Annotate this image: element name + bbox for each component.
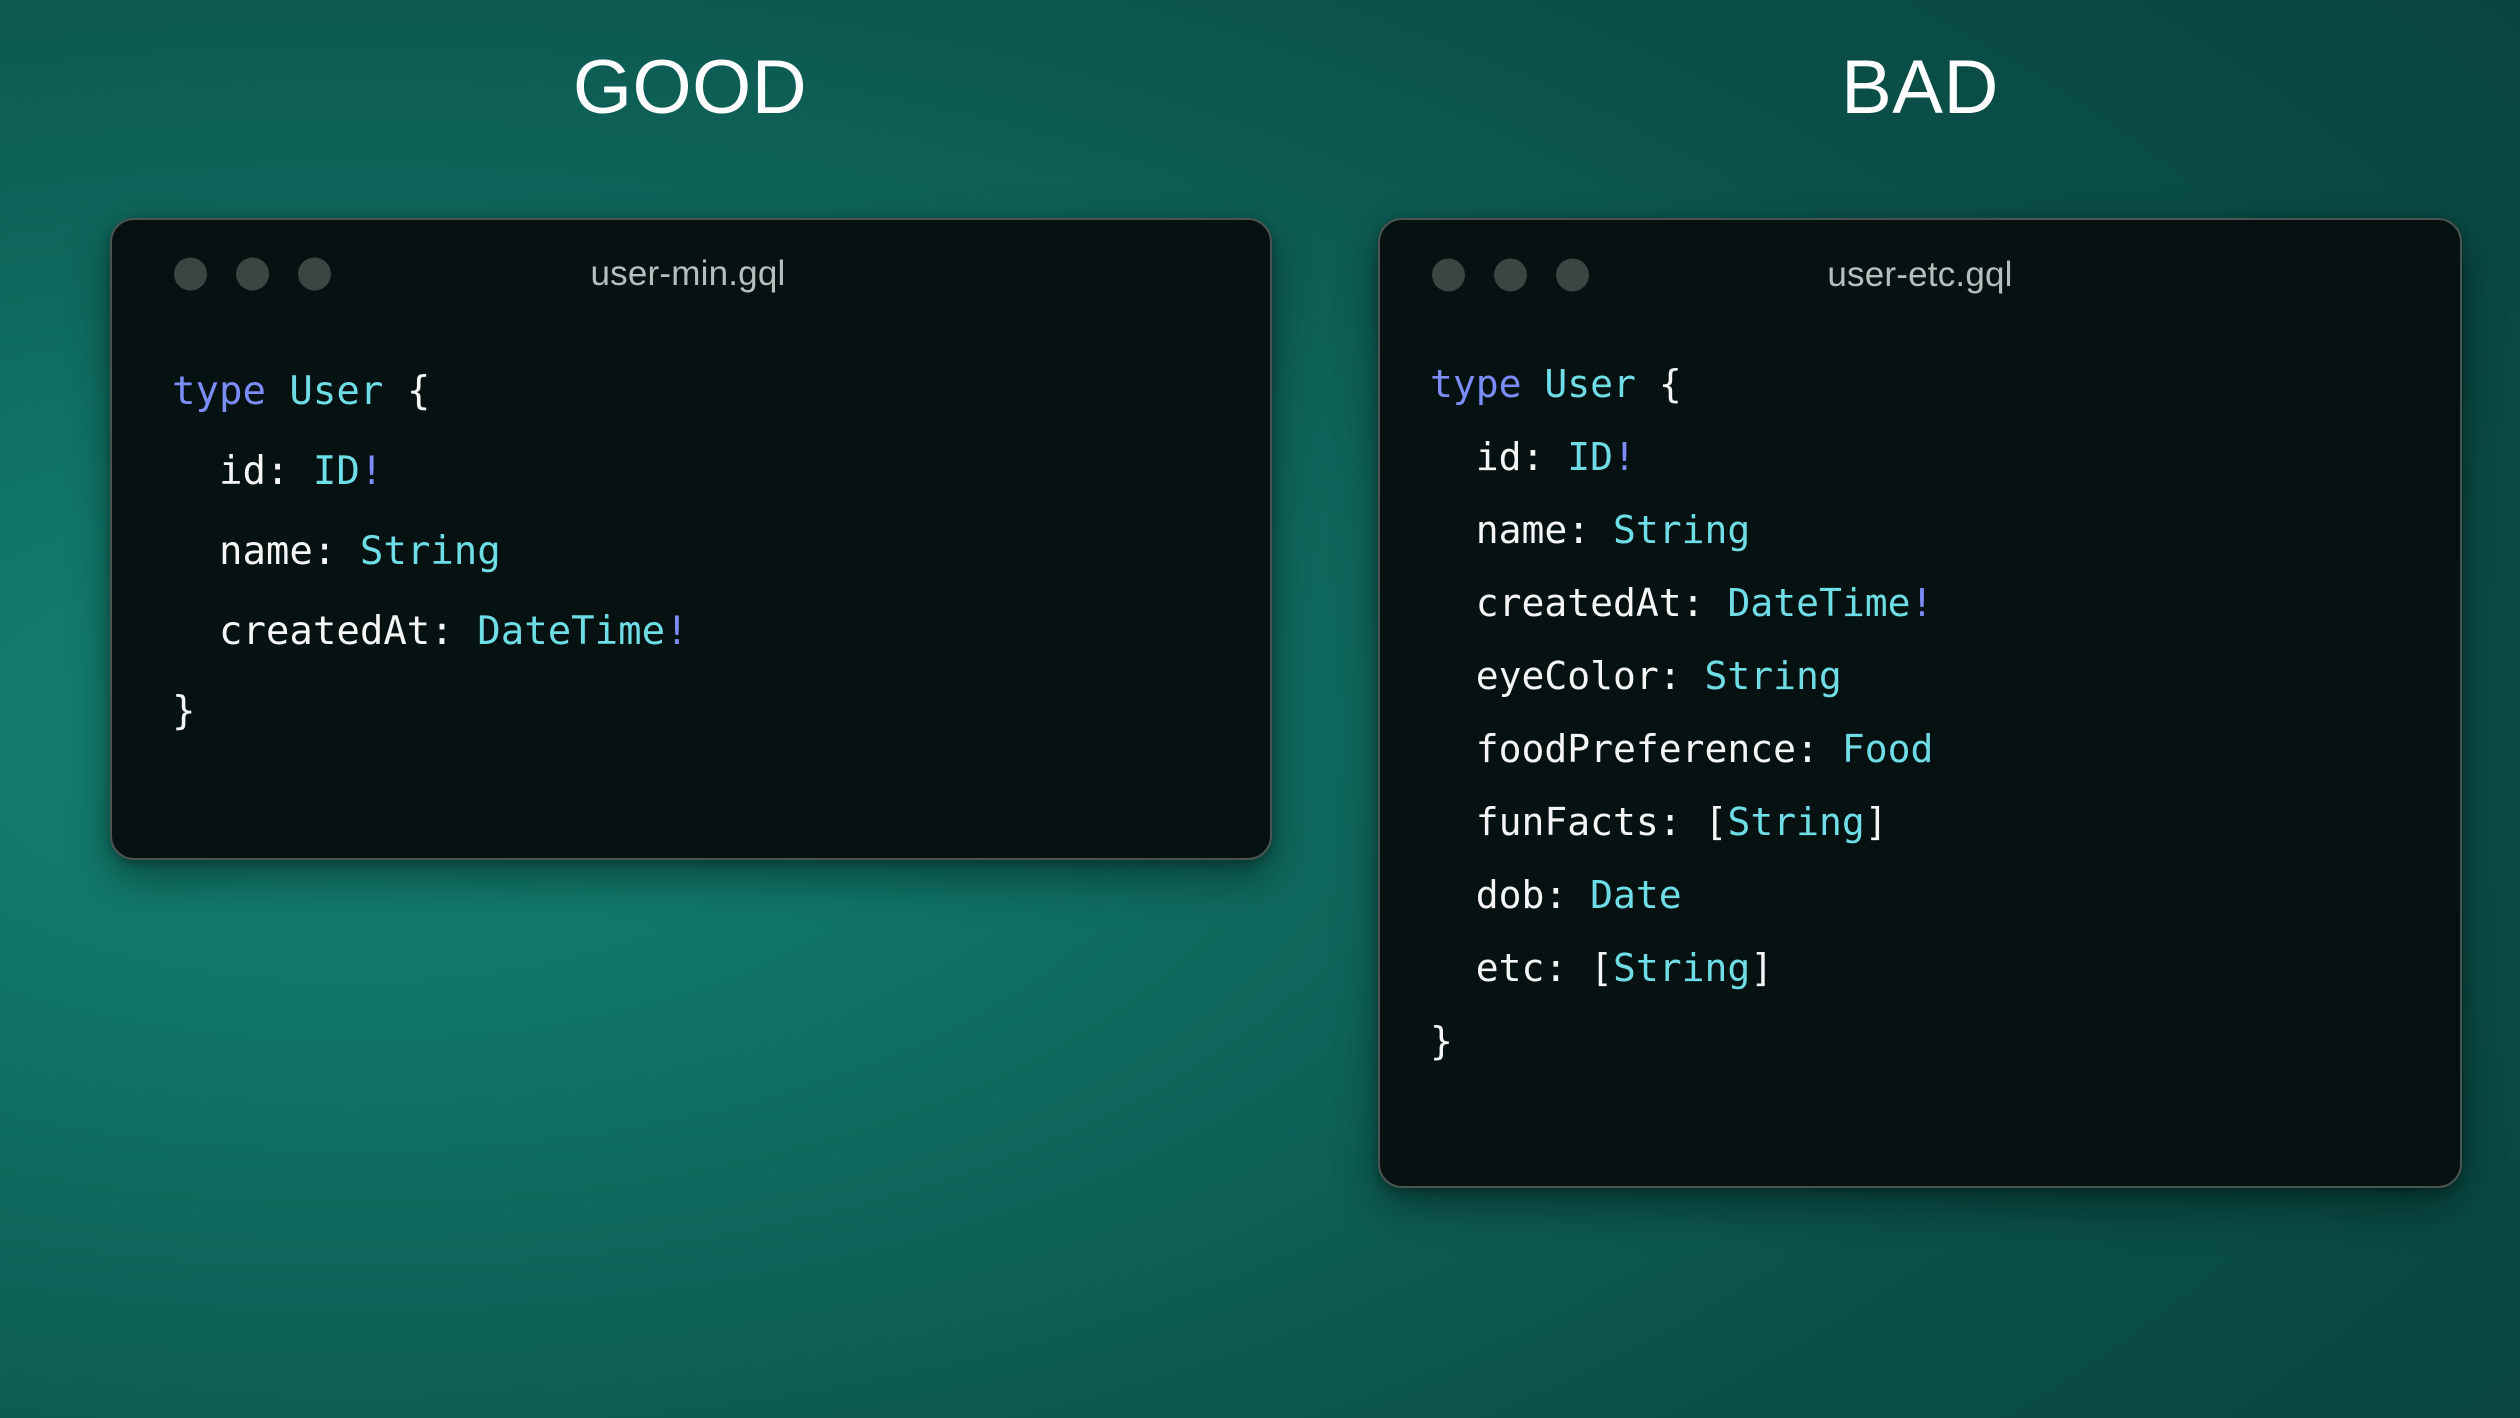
bad-code-block: type User { id: ID! name: String created… — [1380, 330, 2460, 1078]
code-token-type: String — [360, 529, 501, 574]
code-token-bang: ! — [1910, 581, 1933, 625]
code-token-kw: type — [1430, 362, 1522, 406]
code-line: eyeColor: String — [1430, 640, 2460, 713]
code-token-plain: eyeColor: — [1476, 654, 1705, 698]
code-line: type User { — [1430, 348, 2460, 421]
code-token-bang: ! — [1613, 435, 1636, 479]
code-token-type: User — [1544, 362, 1636, 406]
code-line: createdAt: DateTime! — [1430, 567, 2460, 640]
code-indent — [172, 529, 219, 574]
code-token-type: DateTime — [477, 609, 665, 654]
code-line: dob: Date — [1430, 859, 2460, 932]
code-token-type: String — [1705, 654, 1842, 698]
code-token-bang: ! — [665, 609, 688, 654]
code-token-plain — [1636, 362, 1659, 406]
code-token-plain — [266, 369, 289, 414]
code-line: } — [1430, 1005, 2460, 1078]
code-indent — [172, 609, 219, 654]
code-line: type User { — [172, 352, 1270, 432]
code-token-type: DateTime — [1727, 581, 1910, 625]
bad-column-heading: BAD — [1660, 50, 2180, 126]
code-line: etc: [String] — [1430, 932, 2460, 1005]
code-token-plain: createdAt: — [1476, 581, 1728, 625]
code-token-type: User — [289, 369, 383, 414]
code-indent — [172, 449, 219, 494]
code-token-plain: funFacts: — [1476, 800, 1705, 844]
code-line: funFacts: [String] — [1430, 786, 2460, 859]
code-indent — [1430, 727, 1476, 771]
code-token-punc: } — [172, 689, 195, 734]
code-token-type: Food — [1842, 727, 1934, 771]
code-token-kw: type — [172, 369, 266, 414]
code-token-plain: dob: — [1476, 873, 1590, 917]
code-indent — [1430, 581, 1476, 625]
slide-canvas: GOOD BAD user-min.gql type User { id: ID… — [0, 0, 2520, 1418]
code-token-type: Date — [1590, 873, 1682, 917]
code-line: } — [172, 672, 1270, 752]
good-window-filename: user-min.gql — [112, 254, 1270, 294]
code-token-bang: ! — [360, 449, 383, 494]
code-token-plain: name: — [219, 529, 360, 574]
code-line: id: ID! — [1430, 421, 2460, 494]
code-token-plain: foodPreference: — [1476, 727, 1842, 771]
code-token-type: ID — [313, 449, 360, 494]
code-line: name: String — [172, 512, 1270, 592]
good-code-block: type User { id: ID! name: String created… — [112, 328, 1270, 752]
code-token-plain: id: — [219, 449, 313, 494]
code-token-plain: createdAt: — [219, 609, 477, 654]
code-token-punc: [ — [1705, 800, 1728, 844]
code-token-plain — [1522, 362, 1545, 406]
good-column-heading: GOOD — [430, 50, 950, 126]
code-token-punc: { — [1659, 362, 1682, 406]
code-token-plain: name: — [1476, 508, 1613, 552]
code-token-punc: { — [407, 369, 430, 414]
code-indent — [1430, 435, 1476, 479]
code-token-plain: etc: — [1476, 946, 1590, 990]
good-code-window: user-min.gql type User { id: ID! name: S… — [110, 218, 1272, 860]
code-indent — [1430, 946, 1476, 990]
code-token-type: String — [1613, 508, 1750, 552]
code-token-punc: } — [1430, 1019, 1453, 1063]
code-indent — [1430, 508, 1476, 552]
code-line: name: String — [1430, 494, 2460, 567]
code-token-punc: ] — [1750, 946, 1773, 990]
code-token-type: String — [1727, 800, 1864, 844]
code-token-punc: ] — [1865, 800, 1888, 844]
good-window-titlebar: user-min.gql — [112, 220, 1270, 328]
code-indent — [1430, 800, 1476, 844]
code-indent — [1430, 873, 1476, 917]
code-line: id: ID! — [172, 432, 1270, 512]
code-token-type: String — [1613, 946, 1750, 990]
code-indent — [1430, 654, 1476, 698]
bad-window-titlebar: user-etc.gql — [1380, 220, 2460, 330]
bad-window-filename: user-etc.gql — [1380, 255, 2460, 295]
code-token-plain: id: — [1476, 435, 1568, 479]
bad-code-window: user-etc.gql type User { id: ID! name: S… — [1378, 218, 2462, 1188]
code-line: foodPreference: Food — [1430, 713, 2460, 786]
code-token-type: ID — [1567, 435, 1613, 479]
code-token-plain — [383, 369, 406, 414]
code-token-punc: [ — [1590, 946, 1613, 990]
code-line: createdAt: DateTime! — [172, 592, 1270, 672]
